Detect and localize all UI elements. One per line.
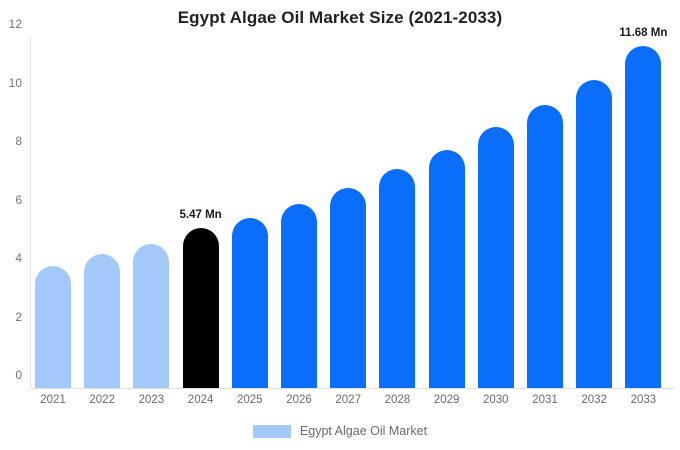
bar-2032[interactable] (576, 80, 612, 388)
bar-2026[interactable] (281, 204, 317, 388)
legend-label: Egypt Algae Oil Market (300, 424, 427, 438)
bar-2028[interactable] (379, 169, 415, 388)
bar-2029[interactable] (429, 150, 465, 388)
x-axis-tick-label-2026: 2026 (286, 394, 312, 406)
x-axis-tick-label-2024: 2024 (188, 394, 214, 406)
x-axis-tick-label-2030: 2030 (483, 394, 509, 406)
y-axis-line (30, 38, 31, 389)
x-axis-tick-label-2032: 2032 (581, 394, 607, 406)
x-axis-tick-label-2023: 2023 (139, 394, 165, 406)
bar-2021[interactable] (35, 266, 71, 388)
legend-swatch-icon (253, 425, 291, 438)
y-axis-tick-label: 0 (15, 368, 22, 382)
bar-2031[interactable] (527, 105, 563, 388)
bar-2033[interactable] (625, 46, 661, 388)
chart-container: Egypt Algae Oil Market Size (2021-2033) … (0, 0, 680, 450)
x-axis-tick-label-2022: 2022 (89, 394, 115, 406)
x-axis-line (30, 388, 675, 389)
bar-2022[interactable] (84, 254, 120, 388)
plot-area: 024681012 5.47 Mn11.68 Mn (30, 38, 675, 389)
bar-2024[interactable] (183, 228, 219, 388)
x-axis-tick-label-2029: 2029 (434, 394, 460, 406)
x-axis-tick-label-2028: 2028 (385, 394, 411, 406)
bar-value-label-2033: 11.68 Mn (619, 27, 667, 39)
chart-legend: Egypt Algae Oil Market (0, 424, 680, 438)
x-axis-tick-label-2021: 2021 (40, 394, 66, 406)
x-axis-tick-label-2025: 2025 (237, 394, 263, 406)
y-axis-tick-label: 4 (15, 251, 22, 265)
bar-2027[interactable] (330, 188, 366, 388)
y-axis-tick-label: 10 (9, 76, 22, 90)
y-axis-tick-label: 8 (15, 134, 22, 148)
x-axis-tick-label-2033: 2033 (631, 394, 657, 406)
bar-value-label-2024: 5.47 Mn (180, 209, 222, 221)
bar-2025[interactable] (232, 218, 268, 388)
y-axis-tick-label: 12 (9, 17, 22, 31)
y-axis-tick-label: 6 (15, 193, 22, 207)
chart-title: Egypt Algae Oil Market Size (2021-2033) (0, 8, 680, 28)
x-axis-tick-label-2027: 2027 (335, 394, 361, 406)
x-axis-tick-label-2031: 2031 (532, 394, 558, 406)
bar-2030[interactable] (478, 127, 514, 388)
bar-2023[interactable] (133, 244, 169, 388)
y-axis-tick-label: 2 (15, 310, 22, 324)
